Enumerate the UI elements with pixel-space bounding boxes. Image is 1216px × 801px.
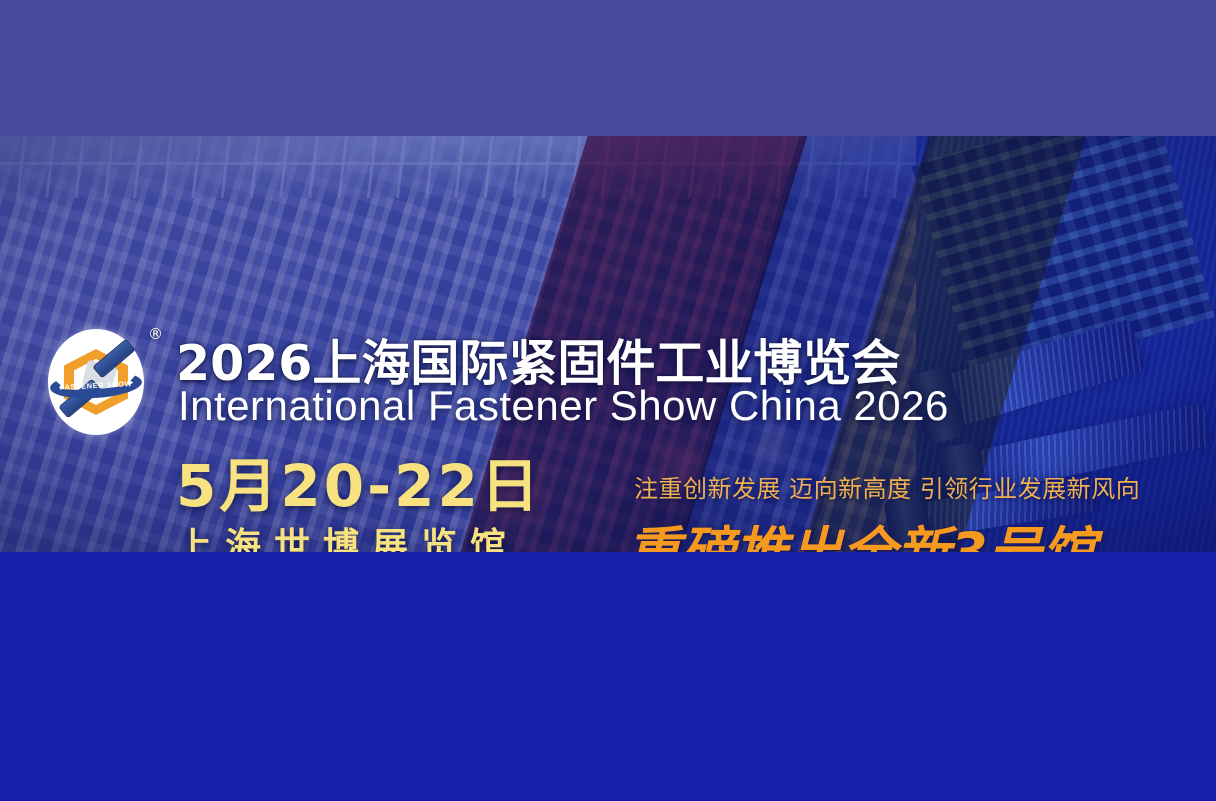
page-root: FASTENER SHOW ® 2026上海国际紧固件工业博览会 Interna…	[0, 0, 1216, 801]
registered-trademark-icon: ®	[148, 325, 163, 343]
event-banner[interactable]: FASTENER SHOW ® 2026上海国际紧固件工业博览会 Interna…	[0, 136, 1216, 552]
pavilion-headline: 重磅推出全新3号馆	[626, 508, 1096, 552]
event-title-english: International Fastener Show China 2026	[178, 382, 949, 430]
background-bottom-band	[0, 552, 1216, 801]
fastener-show-logo[interactable]: FASTENER SHOW ®	[48, 329, 144, 435]
event-slogan: 注重创新发展 迈向新高度 引领行业发展新风向	[634, 469, 1140, 504]
background-top-band	[0, 0, 1216, 136]
event-date: 5月20-22日	[176, 439, 542, 523]
event-venue-chinese: 上海世博展览馆	[176, 517, 519, 552]
